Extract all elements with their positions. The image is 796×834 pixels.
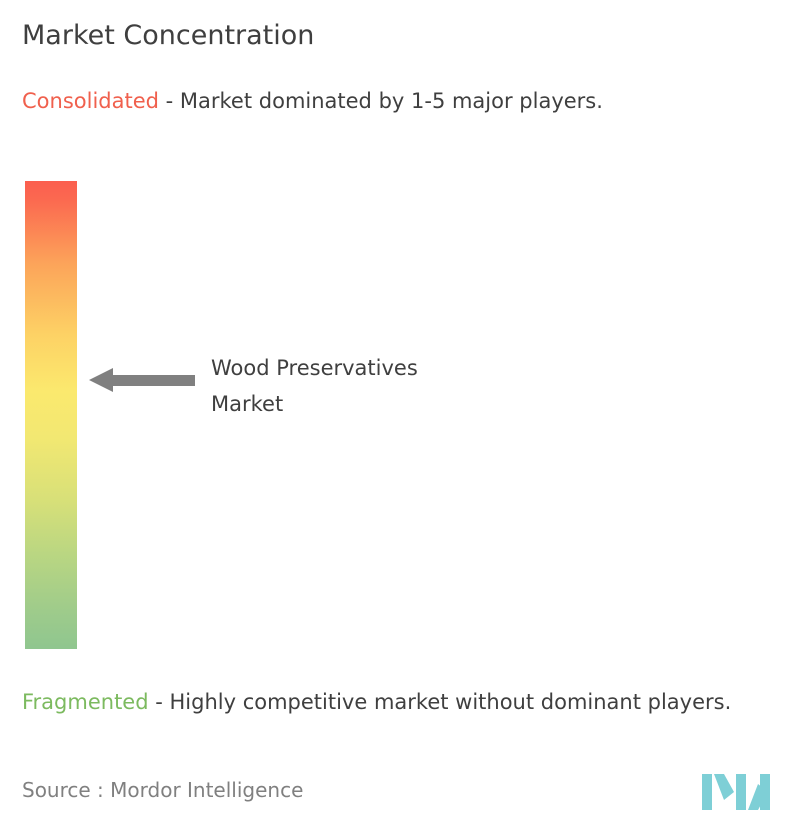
fragmented-description: Fragmented - Highly competitive market w… xyxy=(22,686,782,718)
fragmented-text: - Highly competitive market without domi… xyxy=(149,690,732,714)
arrow-head xyxy=(89,368,113,392)
concentration-gradient-bar xyxy=(25,181,77,649)
market-callout-label: Wood Preservatives Market xyxy=(211,350,418,422)
fragmented-label: Fragmented xyxy=(22,690,149,714)
market-callout-line2: Market xyxy=(211,386,418,422)
chart-container: Market Concentration Consolidated - Mark… xyxy=(0,0,796,834)
market-position-arrow-icon xyxy=(89,368,195,392)
consolidated-description: Consolidated - Market dominated by 1-5 m… xyxy=(22,85,772,117)
mordor-intelligence-logo-icon xyxy=(700,770,772,814)
page-title: Market Concentration xyxy=(22,20,314,51)
arrow-shaft xyxy=(111,375,195,386)
market-callout-line1: Wood Preservatives xyxy=(211,350,418,386)
consolidated-label: Consolidated xyxy=(22,89,159,113)
consolidated-text: - Market dominated by 1-5 major players. xyxy=(159,89,603,113)
source-credit: Source : Mordor Intelligence xyxy=(22,778,303,802)
